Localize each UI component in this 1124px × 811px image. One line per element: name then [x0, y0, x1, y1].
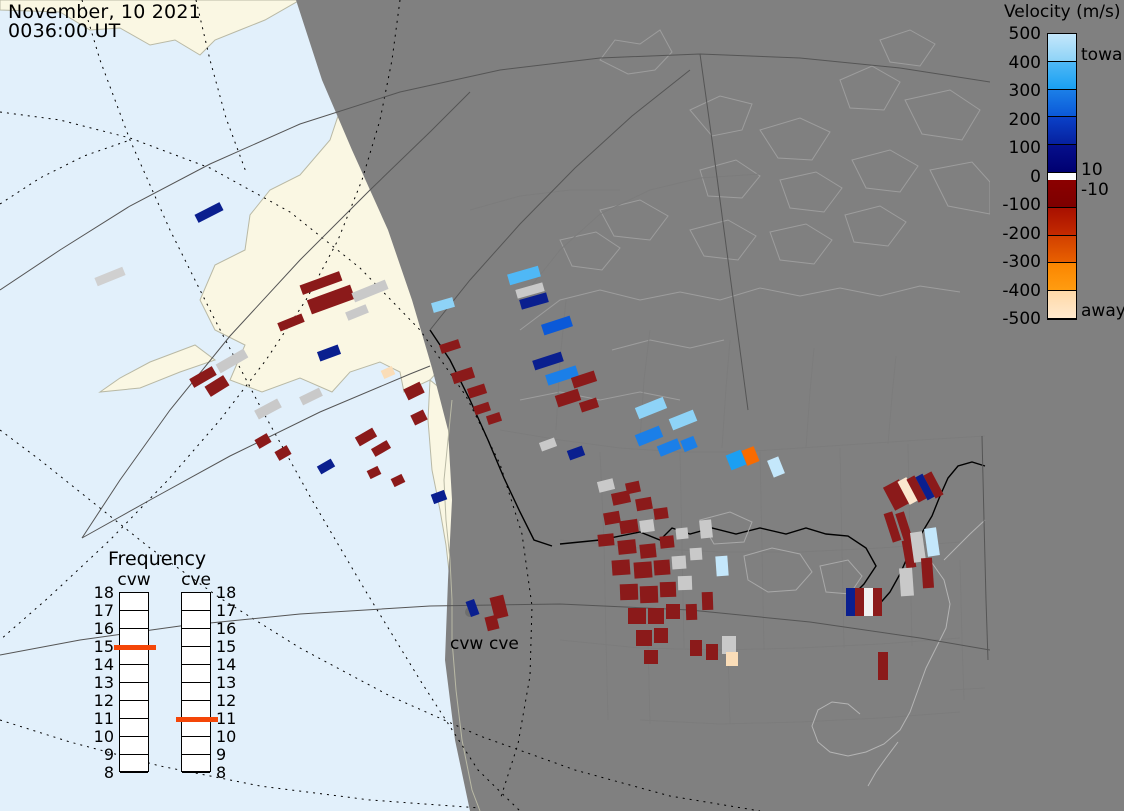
frequency-tick: 18 [216, 583, 242, 602]
frequency-segment [120, 611, 148, 629]
velocity-cell [722, 636, 736, 654]
frequency-tick: 13 [216, 673, 242, 692]
velocity-cell [726, 652, 738, 666]
velocity-cell [672, 556, 687, 570]
frequency-tick: 9 [216, 745, 242, 764]
frequency-tick: 15 [88, 637, 114, 656]
velocity-cell [666, 604, 680, 619]
frequency-tick: 14 [216, 655, 242, 674]
velocity-cell [639, 543, 656, 559]
colorbar-tick: 500 [995, 24, 1041, 44]
colorbar-band [1048, 208, 1076, 236]
colorbar-band [1048, 236, 1076, 264]
velocity-cell [678, 576, 692, 590]
velocity-cell [706, 644, 718, 660]
velocity-cell [699, 519, 713, 538]
frequency-segment [182, 737, 210, 755]
colorbar-tick: 100 [995, 138, 1041, 158]
frequency-tick: 17 [216, 601, 242, 620]
colorbar-band [1048, 291, 1076, 319]
frequency-tick: 8 [88, 763, 114, 782]
colorbar-tick: -300 [995, 252, 1041, 272]
frequency-tick: 13 [88, 673, 114, 692]
velocity-cell [619, 519, 639, 534]
velocity-cell [620, 584, 639, 601]
frequency-radar-name-cve: cve [176, 570, 216, 590]
frequency-segment [120, 593, 148, 611]
colorbar-title: Velocity (m/s) [1004, 2, 1121, 22]
velocity-cell [648, 608, 664, 624]
frequency-segment [120, 683, 148, 701]
velocity-cell [846, 588, 855, 616]
frequency-bar-cve[interactable] [181, 592, 211, 772]
frequency-tick: 14 [88, 655, 114, 674]
frequency-segment [120, 719, 148, 737]
frequency-segment [120, 701, 148, 719]
velocity-cell [686, 604, 698, 620]
velocity-cell [644, 650, 658, 664]
frequency-tick: 17 [88, 601, 114, 620]
colorbar-tick: 200 [995, 110, 1041, 130]
superdarn-velocity-map: cvwcve November, 10 2021 0036:00 UT Freq… [0, 0, 1124, 811]
frequency-marker-cvw [114, 645, 156, 650]
frequency-segment [182, 611, 210, 629]
frequency-tick: 16 [216, 619, 242, 638]
frequency-tick: 18 [88, 583, 114, 602]
frequency-segment [182, 683, 210, 701]
frequency-tick: 10 [216, 727, 242, 746]
colorbar-band [1048, 90, 1076, 118]
frequency-segment [182, 665, 210, 683]
frequency-title: Frequency [108, 548, 206, 570]
frequency-segment [182, 755, 210, 773]
velocity-cell [640, 586, 659, 604]
velocity-cell [702, 592, 714, 610]
frequency-tick: 11 [216, 709, 242, 728]
frequency-segment [182, 629, 210, 647]
frequency-tick: 8 [216, 763, 242, 782]
frequency-tick: 15 [216, 637, 242, 656]
frequency-tick: 12 [216, 691, 242, 710]
colorbar-toward-label: toward [1081, 45, 1124, 65]
frequency-tick: 11 [88, 709, 114, 728]
frequency-tick: 16 [88, 619, 114, 638]
frequency-tick: 9 [88, 745, 114, 764]
velocity-cell [855, 588, 864, 616]
time-label: 0036:00 UT [8, 21, 120, 41]
frequency-tick: 12 [88, 691, 114, 710]
frequency-tick: 10 [88, 727, 114, 746]
velocity-cell [654, 628, 668, 643]
frequency-bar-cvw[interactable] [119, 592, 149, 772]
velocity-cell [636, 630, 652, 646]
site-label-cvw: cvw [450, 634, 483, 654]
velocity-cell [639, 519, 655, 533]
velocity-cell [690, 548, 703, 561]
velocity-cell [628, 608, 646, 624]
velocity-cell [660, 582, 677, 598]
velocity-cell [611, 559, 630, 575]
colorbar-tick: -400 [995, 281, 1041, 301]
colorbar-tick: -100 [995, 195, 1041, 215]
colorbar-tick: 300 [995, 81, 1041, 101]
date-label: November, 10 2021 [8, 2, 201, 22]
colorbar-tick: 400 [995, 53, 1041, 73]
velocity-cell [653, 507, 668, 520]
colorbar-band [1048, 117, 1076, 145]
velocity-cell [864, 588, 873, 616]
velocity-cell [873, 588, 882, 616]
frequency-segment [120, 737, 148, 755]
frequency-radar-name-cvw: cvw [114, 570, 154, 590]
velocity-cell [690, 640, 702, 656]
frequency-segment [182, 647, 210, 665]
colorbar[interactable] [1047, 33, 1077, 320]
colorbar-tick: 0 [995, 167, 1041, 187]
colorbar-positive-threshold-label: 10 [1081, 160, 1103, 180]
frequency-segment [120, 665, 148, 683]
velocity-cell [633, 561, 652, 578]
colorbar-band [1048, 173, 1076, 180]
velocity-cell [617, 539, 636, 555]
frequency-segment [120, 755, 148, 773]
velocity-cell [715, 556, 728, 577]
colorbar-band [1048, 62, 1076, 90]
velocity-cell [659, 535, 674, 548]
frequency-legend: Frequency cvw 18171615141312111098 cve 1… [90, 548, 250, 783]
site-label-cve: cve [489, 634, 519, 654]
colorbar-band [1048, 34, 1076, 62]
colorbar-negative-threshold-label: -10 [1081, 180, 1109, 200]
frequency-marker-cve [176, 717, 218, 722]
colorbar-band [1048, 145, 1076, 173]
colorbar-away-label: away [1081, 301, 1124, 321]
colorbar-band [1048, 180, 1076, 208]
colorbar-band [1048, 263, 1076, 291]
velocity-cell [878, 652, 888, 680]
frequency-segment [182, 593, 210, 611]
velocity-cell [675, 527, 688, 539]
velocity-cell [653, 559, 670, 575]
colorbar-tick: -500 [995, 309, 1041, 329]
colorbar-tick: -200 [995, 224, 1041, 244]
velocity-cell [597, 533, 614, 547]
velocity-cell [899, 568, 914, 597]
velocity-cell [921, 558, 934, 589]
